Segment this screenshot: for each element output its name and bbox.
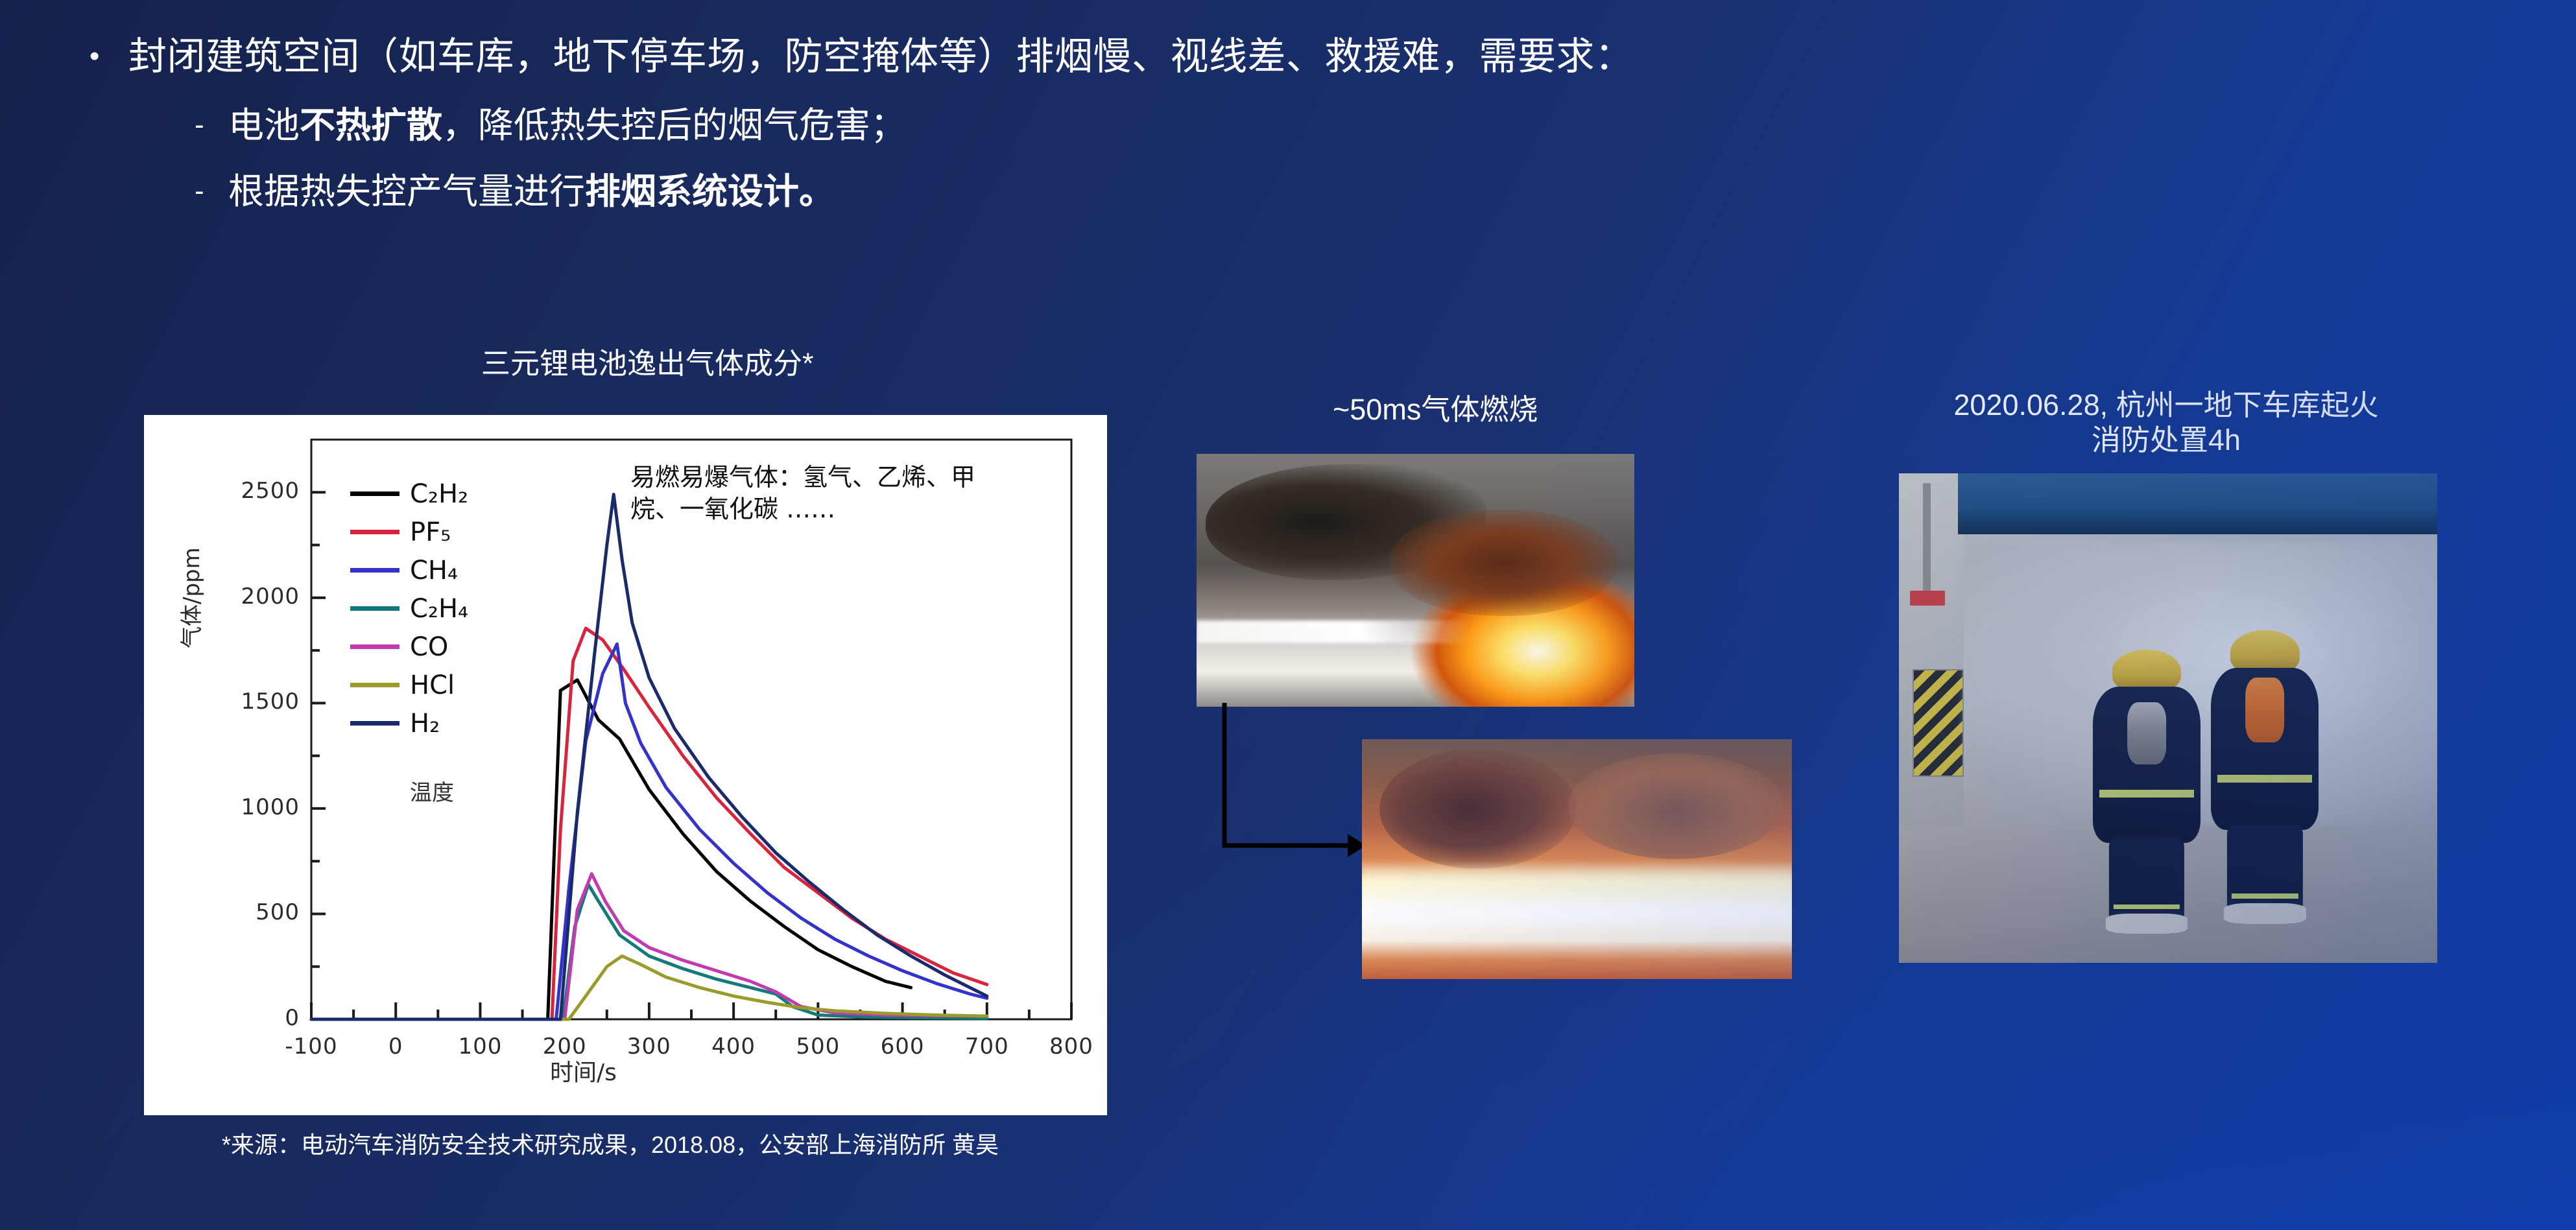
chart-y-axis-label: 气体/ppm	[174, 547, 206, 648]
chart-y-tick-label: 0	[202, 1005, 300, 1031]
chart-x-tick-label: 0	[350, 1034, 441, 1059]
chart-x-tick-label: 200	[519, 1034, 610, 1059]
bullet-text-1: 封闭建筑空间（如车库，地下停车场，防空掩体等）排烟慢、视线差、救援难，需要求：	[128, 29, 1634, 84]
helmet	[2230, 630, 2299, 674]
turnout-coat	[2093, 687, 2200, 843]
legend-swatch-icon	[350, 721, 400, 726]
legend-item-C2H4: C₂H₄	[350, 589, 468, 628]
chart-x-tick-label: 600	[857, 1034, 948, 1059]
bullet-run-emphasis: 排烟系统设计。	[585, 171, 835, 211]
bullet-text-2: 电池不热扩散，降低热失控后的烟气危害；	[228, 100, 906, 150]
bullet-marker: •	[89, 29, 128, 84]
chart-x-tick-label: 800	[1026, 1034, 1117, 1059]
bullet-run: 封闭建筑空间（如车库，地下停车场，防空掩体等）排烟慢、视线差、救援难，需要求：	[128, 35, 1634, 78]
photo-burn-region	[1568, 753, 1783, 859]
chart-y-tick-label: 1000	[202, 794, 300, 820]
photo-highlight-bar	[1197, 621, 1468, 643]
reflective-stripe	[2217, 775, 2312, 783]
hazard-stripe-column	[1913, 669, 1964, 777]
source-footnote: *来源：电动汽车消防安全技术研究成果，2018.08，公安部上海消防所 黄昊	[222, 1126, 999, 1160]
chart-title: 三元锂电池逸出气体成分*	[481, 340, 814, 382]
legend-item-temperature: 温度	[410, 775, 454, 807]
boots	[2106, 914, 2188, 934]
chart-y-tick-label: 2000	[202, 584, 300, 609]
chart-annotation: 易燃易爆气体：氢气、乙烯、甲烷、一氧化碳 ……	[630, 462, 981, 526]
caption-hangzhou-fire: 2020.06.28, 杭州一地下车库起火 消防处置4h	[1881, 388, 2451, 458]
legend-swatch-icon	[350, 568, 400, 573]
legend-item-CH4: CH₄	[350, 551, 468, 589]
photo-firefighters-garage: 消防员进入充满烟气的地下车库	[1899, 473, 2437, 963]
legend-item-H2: H₂	[350, 704, 468, 742]
legend-item-HCl: HCl	[350, 666, 468, 704]
chart-x-tick-label: 300	[604, 1034, 695, 1059]
chart-x-tick-label: 700	[942, 1034, 1032, 1059]
turnout-coat	[2211, 668, 2319, 829]
photo-flame-glow	[1362, 864, 1792, 926]
legend-label: C₂H₂	[410, 479, 468, 509]
legend-label: HCl	[410, 670, 455, 700]
reflective-stripe	[2114, 905, 2180, 909]
legend-swatch-icon	[350, 683, 400, 687]
legend-label: C₂H₄	[410, 594, 468, 624]
bullet-text-3: 根据热失控产气量进行排烟系统设计。	[228, 166, 835, 217]
legend-label: CO	[410, 632, 448, 662]
helmet	[2112, 650, 2181, 692]
garage-ceiling-beam	[1958, 473, 2437, 534]
caption-hangzhou-line2: 消防处置4h	[1881, 423, 2451, 458]
chart-x-tick-label: 400	[688, 1034, 779, 1059]
air-tank	[2127, 702, 2166, 764]
air-tank	[2246, 678, 2285, 742]
bullet-run: ，降低热失控后的烟气危害；	[442, 105, 906, 145]
bullet-run-emphasis: 不热扩散	[300, 105, 442, 145]
slide-canvas: • 封闭建筑空间（如车库，地下停车场，防空掩体等）排烟慢、视线差、救援难，需要求…	[0, 0, 2576, 1230]
sub-bullet-marker: -	[195, 100, 228, 150]
chart-y-tick-label: 1500	[202, 689, 300, 715]
legend-label: PF₅	[410, 517, 451, 547]
ceiling-pipe	[1923, 483, 1931, 591]
chart-y-tick-label: 500	[202, 899, 300, 925]
chart-y-tick-label: 2500	[202, 478, 300, 504]
bullet-run: 电池	[228, 105, 300, 145]
reflective-stripe	[2232, 893, 2298, 899]
legend-swatch-icon	[350, 606, 400, 611]
exit-sign	[1910, 591, 1945, 606]
bullet-item-1: • 封闭建筑空间（如车库，地下停车场，防空掩体等）排烟慢、视线差、救援难，需要求…	[0, 29, 2270, 84]
chart-x-tick-label: 100	[435, 1034, 525, 1059]
legend-item-CO: CO	[350, 628, 468, 666]
boots	[2224, 903, 2306, 924]
caption-gas-combustion: ~50ms气体燃烧	[1333, 386, 1538, 428]
chart-legend: C₂H₂PF₅CH₄C₂H₄COHClH₂	[350, 475, 468, 742]
photo-vehicle-fire: 车底部热失控起火照片	[1197, 454, 1634, 707]
bullet-list: • 封闭建筑空间（如车库，地下停车场，防空掩体等）排烟慢、视线差、救援难，需要求…	[0, 29, 2270, 217]
reflective-stripe	[2099, 790, 2194, 798]
legend-item-PF5: PF₅	[350, 513, 468, 551]
legend-swatch-icon	[350, 530, 400, 534]
bullet-run: 根据热失控产气量进行	[228, 171, 585, 211]
legend-swatch-icon	[350, 645, 400, 649]
caption-hangzhou-line1: 2020.06.28, 杭州一地下车库起火	[1881, 388, 2451, 423]
bullet-item-2: - 电池不热扩散，降低热失控后的烟气危害；	[0, 100, 2270, 150]
sub-bullet-marker: -	[195, 166, 228, 217]
firefighter-left	[2093, 650, 2200, 934]
chart-x-tick-label: 500	[772, 1034, 863, 1059]
legend-label: H₂	[410, 709, 440, 739]
chart-x-tick-label: -100	[266, 1034, 357, 1059]
bullet-item-3: - 根据热失控产气量进行排烟系统设计。	[0, 166, 2270, 217]
legend-item-C2H2: C₂H₂	[350, 475, 468, 513]
legend-label: CH₄	[410, 556, 458, 585]
photo-gas-combustion-closeup: 气体燃烧放大照片	[1362, 739, 1792, 979]
firefighter-right	[2211, 630, 2319, 924]
photo-burn-region	[1389, 510, 1617, 616]
legend-swatch-icon	[350, 491, 400, 496]
photo-shadow-region	[1379, 749, 1577, 869]
